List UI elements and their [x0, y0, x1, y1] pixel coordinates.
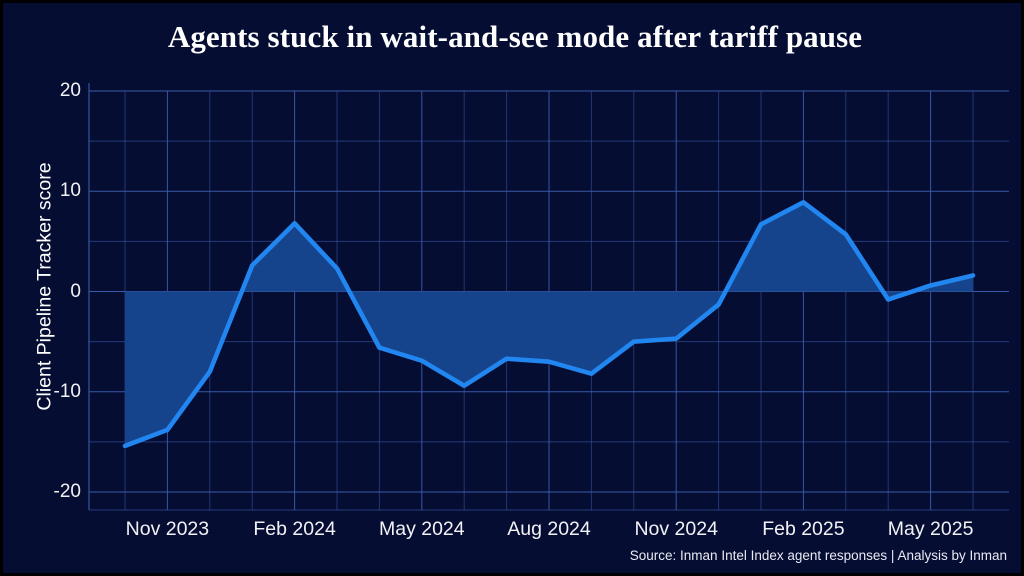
x-tick-label: Aug 2024	[507, 518, 591, 541]
x-axis-ticks: Nov 2023Feb 2024May 2024Aug 2024Nov 2024…	[3, 3, 1024, 576]
source-note: Source: Inman Intel Index agent response…	[630, 548, 1007, 563]
x-tick-label: Nov 2023	[126, 518, 209, 541]
x-tick-label: May 2025	[888, 518, 974, 541]
x-tick-label: May 2024	[379, 518, 465, 541]
x-tick-label: Feb 2025	[762, 518, 844, 541]
x-tick-label: Feb 2024	[253, 518, 335, 541]
x-tick-label: Nov 2024	[634, 518, 717, 541]
chart-screenshot: Agents stuck in wait-and-see mode after …	[0, 0, 1024, 576]
y-axis-label: Client Pipeline Tracker score	[34, 127, 57, 447]
